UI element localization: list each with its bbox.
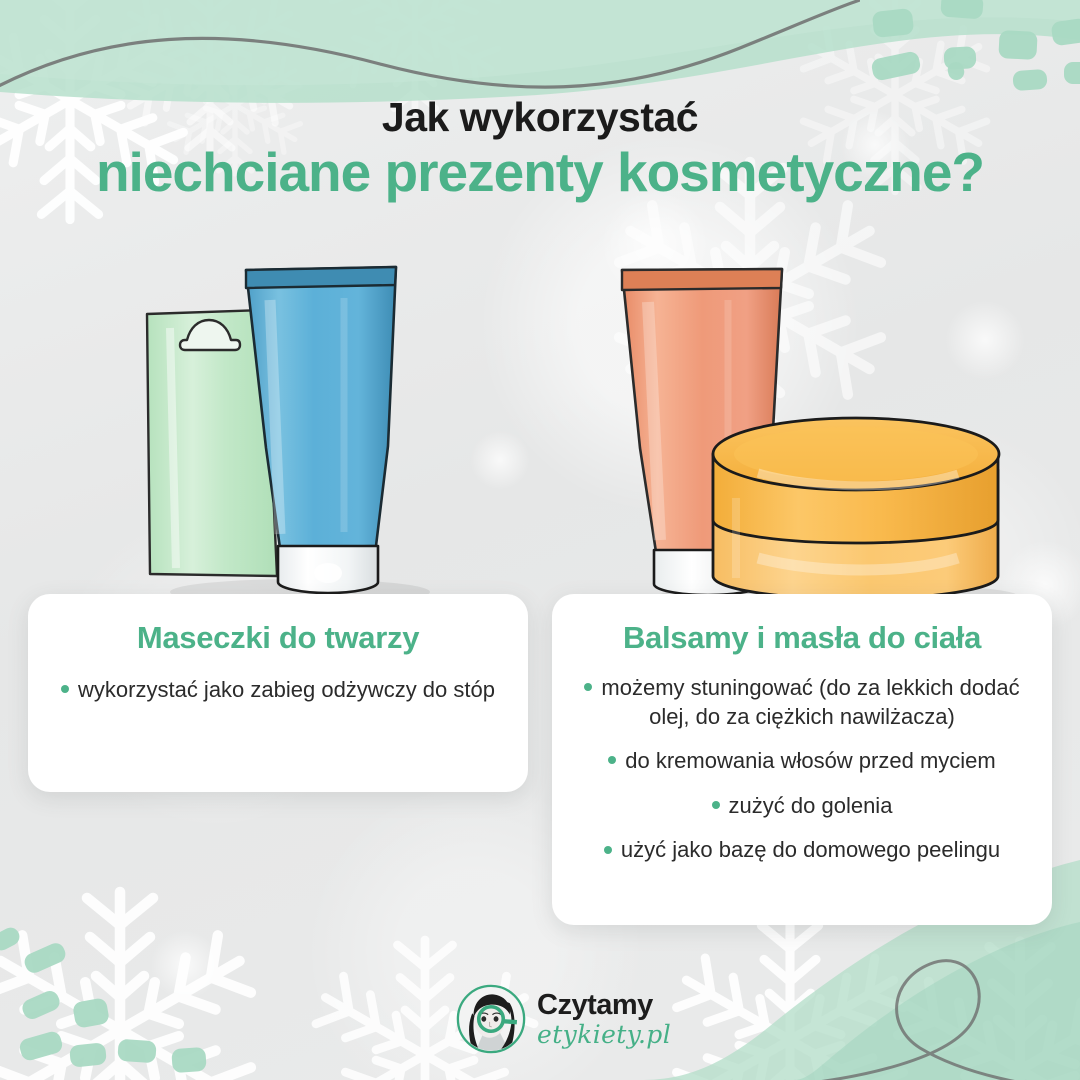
brand-word-bottom: etykiety.pl xyxy=(537,1022,671,1047)
mint-chip xyxy=(171,1047,207,1073)
mint-chip xyxy=(69,1042,107,1068)
card-title-body-butters: Balsamy i masła do ciała xyxy=(552,594,1052,656)
bullet-dot-icon xyxy=(604,846,612,854)
page-title: Jak wykorzystać niechciane prezenty kosm… xyxy=(0,96,1080,202)
mint-chip xyxy=(1064,62,1080,84)
title-line-1: Jak wykorzystać xyxy=(0,96,1080,139)
woman-with-magnifier-icon xyxy=(455,983,527,1055)
bullet-dot-icon xyxy=(584,683,592,691)
list-item-text: możemy stuningować (do za lekkich dodać … xyxy=(601,675,1019,729)
list-item: wykorzystać jako zabieg odżywczy do stóp xyxy=(56,676,500,705)
bullet-dot-icon xyxy=(608,756,616,764)
mint-chip xyxy=(872,8,914,38)
list-item: do kremowania włosów przed myciem xyxy=(578,747,1026,776)
mint-chip xyxy=(1051,18,1080,47)
list-item: zużyć do golenia xyxy=(578,792,1026,821)
mint-chip xyxy=(998,30,1037,60)
infographic-canvas: Jak wykorzystać niechciane prezenty kosm… xyxy=(0,0,1080,1080)
card-face-masks: Maseczki do twarzy wykorzystać jako zabi… xyxy=(28,594,528,792)
list-item-text: użyć jako bazę do domowego peelingu xyxy=(621,837,1000,862)
list-item: użyć jako bazę do domowego peelingu xyxy=(578,836,1026,865)
bullet-dot-icon xyxy=(61,685,69,693)
bokeh-dot xyxy=(470,430,530,490)
illustration-body-butters xyxy=(608,258,1028,608)
mint-chip xyxy=(117,1039,156,1064)
card-points-body-butters: możemy stuningować (do za lekkich dodać … xyxy=(552,656,1052,865)
brand-word-top: Czytamy xyxy=(537,991,671,1020)
mint-chip xyxy=(940,0,984,19)
card-body-butters: Balsamy i masła do ciała możemy stuningo… xyxy=(552,594,1052,925)
list-item: możemy stuningować (do za lekkich dodać … xyxy=(578,674,1026,731)
list-item-text: wykorzystać jako zabieg odżywczy do stóp xyxy=(78,677,495,702)
illustration-face-masks xyxy=(130,258,440,608)
brand-wordmark: Czytamy etykiety.pl xyxy=(537,991,671,1047)
title-line-2: niechciane prezenty kosmetyczne? xyxy=(0,143,1080,202)
brand-logo[interactable]: Czytamy etykiety.pl xyxy=(455,983,671,1055)
list-item-text: zużyć do golenia xyxy=(729,793,893,818)
bullet-dot-icon xyxy=(712,801,720,809)
list-item-text: do kremowania włosów przed myciem xyxy=(625,748,995,773)
card-title-face-masks: Maseczki do twarzy xyxy=(28,594,528,656)
mint-chip xyxy=(1012,69,1047,91)
card-points-face-masks: wykorzystać jako zabieg odżywczy do stóp xyxy=(28,656,528,705)
